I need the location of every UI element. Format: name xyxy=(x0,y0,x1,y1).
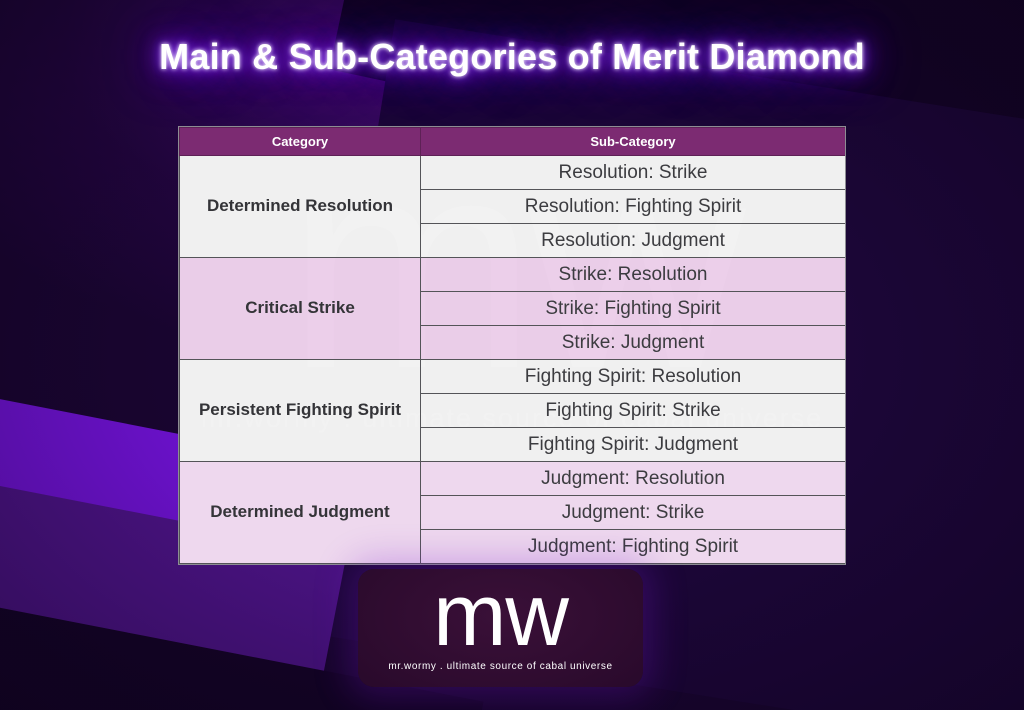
table-row[interactable]: Critical Strike Strike: Resolution xyxy=(180,258,846,292)
table-row[interactable]: Determined Judgment Judgment: Resolution xyxy=(180,462,846,496)
brand-logo: mw mr.wormy . ultimate source of cabal u… xyxy=(358,569,643,687)
subcategory-cell: Judgment: Strike xyxy=(421,496,846,530)
table-body: Determined Resolution Resolution: Strike… xyxy=(180,156,846,564)
logo-tagline: mr.wormy . ultimate source of cabal univ… xyxy=(358,661,643,672)
table-row[interactable]: Persistent Fighting Spirit Fighting Spir… xyxy=(180,360,846,394)
subcategory-cell: Strike: Fighting Spirit xyxy=(421,292,846,326)
subcategory-cell: Judgment: Fighting Spirit xyxy=(421,530,846,564)
subcategory-cell: Strike: Judgment xyxy=(421,326,846,360)
column-header-subcategory: Sub-Category xyxy=(421,128,846,156)
subcategory-cell: Fighting Spirit: Resolution xyxy=(421,360,846,394)
page-title: Main & Sub-Categories of Merit Diamond xyxy=(0,36,1024,78)
subcategory-cell: Resolution: Fighting Spirit xyxy=(421,190,846,224)
subcategory-cell: Strike: Resolution xyxy=(421,258,846,292)
table-row[interactable]: Determined Resolution Resolution: Strike xyxy=(180,156,846,190)
logo-wordmark: mw xyxy=(358,571,643,659)
category-cell: Persistent Fighting Spirit xyxy=(180,360,421,462)
subcategory-cell: Fighting Spirit: Strike xyxy=(421,394,846,428)
category-cell: Determined Resolution xyxy=(180,156,421,258)
subcategory-cell: Resolution: Judgment xyxy=(421,224,846,258)
table-header-row: Category Sub-Category xyxy=(180,128,846,156)
subcategory-cell: Judgment: Resolution xyxy=(421,462,846,496)
subcategory-cell: Resolution: Strike xyxy=(421,156,846,190)
category-cell: Critical Strike xyxy=(180,258,421,360)
column-header-category: Category xyxy=(180,128,421,156)
slide-canvas: Main & Sub-Categories of Merit Diamond m… xyxy=(0,0,1024,710)
category-cell: Determined Judgment xyxy=(180,462,421,564)
category-table: mw mr.wormy . ultimate source of cabal u… xyxy=(178,126,846,565)
subcategory-cell: Fighting Spirit: Judgment xyxy=(421,428,846,462)
